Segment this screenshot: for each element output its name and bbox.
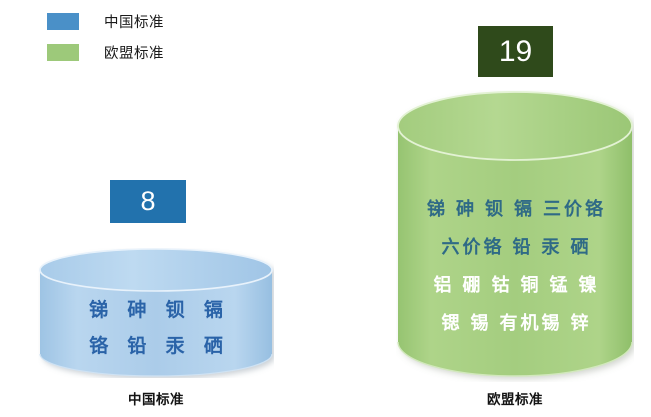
legend-item-eu[interactable]: 欧盟标准 — [47, 39, 267, 65]
cylinder-china-line-1: 锑 砷 钡 镉 — [38, 293, 274, 329]
legend-swatch-china-icon — [47, 13, 79, 30]
chart-canvas: 中国标准 欧盟标准 8 19 — [0, 0, 651, 417]
cylinder-eu[interactable]: 锑 砷 钡 镉 三价铬 六价铬 铅 汞 硒 铝 硼 钴 铜 锰 镍 锶 锡 有机… — [396, 90, 634, 382]
caption-eu: 欧盟标准 — [396, 388, 634, 408]
cylinder-eu-line-3: 铝 硼 钴 铜 锰 镍 — [396, 266, 634, 304]
cylinder-eu-line-1: 锑 砷 钡 镉 三价铬 — [396, 190, 634, 228]
value-badge-eu: 19 — [478, 26, 553, 77]
legend-label-china: 中国标准 — [104, 11, 164, 32]
caption-china: 中国标准 — [38, 388, 274, 408]
legend-swatch-eu-icon — [47, 44, 79, 61]
chart-legend: 中国标准 欧盟标准 — [47, 8, 267, 70]
legend-label-eu: 欧盟标准 — [104, 42, 164, 63]
cylinder-eu-line-4: 锶 锡 有机锡 锌 — [396, 304, 634, 342]
legend-item-china[interactable]: 中国标准 — [47, 8, 267, 34]
cylinder-china-line-2: 铬 铅 汞 硒 — [38, 329, 274, 365]
cylinder-china[interactable]: 锑 砷 钡 镉 铬 铅 汞 硒 — [38, 248, 274, 378]
cylinder-eu-text: 锑 砷 钡 镉 三价铬 六价铬 铅 汞 硒 铝 硼 钴 铜 锰 镍 锶 锡 有机… — [396, 190, 634, 342]
cylinder-china-text: 锑 砷 钡 镉 铬 铅 汞 硒 — [38, 293, 274, 365]
value-badge-china: 8 — [110, 180, 186, 223]
cylinder-eu-line-2: 六价铬 铅 汞 硒 — [396, 228, 634, 266]
